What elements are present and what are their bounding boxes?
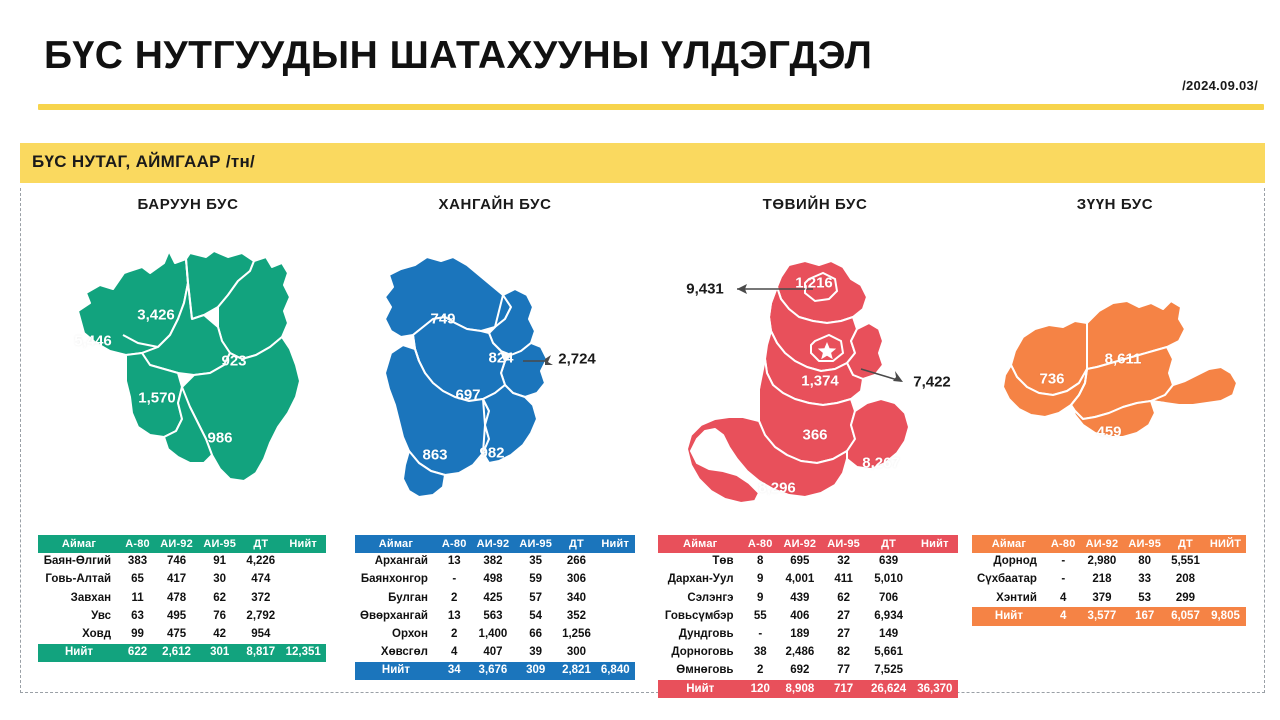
cell-ai95: 30: [198, 571, 241, 589]
cell-total-ai92: 2,612: [155, 644, 198, 662]
table-total-row: Нийт 120 8,908 717 26,624 36,370: [658, 680, 958, 698]
cell-ai95: 53: [1123, 589, 1166, 607]
cell-a80: 2: [743, 662, 778, 680]
map-east: 8,611 736 459: [975, 223, 1255, 523]
cell-name: Говьсүмбэр: [658, 607, 743, 625]
table-row: Баянхонгор - 498 59 306 863: [355, 571, 635, 589]
cell-ai92: 379: [1081, 589, 1124, 607]
cell-total: 3,426: [280, 607, 326, 625]
cell-total-sum: 36,370: [912, 680, 958, 698]
cell-total: 459: [1205, 571, 1246, 589]
cell-total: 736: [1205, 589, 1246, 607]
cell-dt: 208: [1166, 571, 1205, 589]
table-row: Говь-Алтай 65 417 30 474 986: [38, 571, 326, 589]
cell-ai92: 425: [472, 589, 515, 607]
cell-total-label: Нийт: [972, 607, 1046, 625]
cell-ai92: 498: [472, 571, 515, 589]
cell-total-label: Нийт: [38, 644, 120, 662]
map-label-west-3: 1,570: [138, 390, 176, 407]
table-khangai-body: Архангай 13 382 35 266 697 Баянхонгор - …: [355, 553, 635, 662]
cell-ai92: 218: [1081, 571, 1124, 589]
cell-dt: 340: [557, 589, 596, 607]
cell-total: 2,724: [596, 626, 635, 644]
th-khangai-dt: ДТ: [557, 535, 596, 553]
cell-total-label: Нийт: [658, 680, 743, 698]
cell-dt: 352: [557, 607, 596, 625]
cell-ai92: 692: [778, 662, 822, 680]
cell-ai95: 80: [1123, 553, 1166, 571]
cell-dt: 639: [865, 553, 911, 571]
cell-total-dt: 6,057: [1166, 607, 1205, 625]
cell-dt: 299: [1166, 589, 1205, 607]
th-west-ai92: АИ-92: [155, 535, 198, 553]
cell-total: 982: [596, 607, 635, 625]
map-label-khangai-2: 697: [455, 387, 480, 404]
table-row: Хэнтий 4 379 53 299 736: [972, 589, 1246, 607]
cell-ai95: 91: [198, 553, 241, 571]
map-label-central-3: 8,267: [862, 455, 900, 472]
cell-name: Увс: [38, 607, 120, 625]
cell-total-ai95: 301: [198, 644, 241, 662]
th-west-total: Нийт: [280, 535, 326, 553]
th-west-ai95: АИ-95: [198, 535, 241, 553]
cell-ai92: 439: [778, 589, 822, 607]
cell-dt: 954: [241, 626, 280, 644]
table-row: Өмнөговь 2 692 77 7,525 8,296: [658, 662, 958, 680]
cell-name: Завхан: [38, 589, 120, 607]
map-label-east-1: 736: [1039, 371, 1064, 388]
cell-total-label: Нийт: [355, 662, 437, 680]
th-khangai-ai92: АИ-92: [472, 535, 515, 553]
cell-a80: 13: [437, 553, 472, 571]
cell-total-sum: 9,805: [1205, 607, 1246, 625]
map-label-central-1: 1,374: [801, 373, 839, 390]
cell-a80: 4: [1046, 589, 1081, 607]
cell-ai95: 27: [822, 626, 866, 644]
cell-name: Дархан-Уул: [658, 571, 743, 589]
cell-total: 5,446: [280, 553, 326, 571]
table-row: Завхан 11 478 62 372 923: [38, 589, 326, 607]
cell-a80: -: [1046, 553, 1081, 571]
cell-name: Баянхонгор: [355, 571, 437, 589]
cell-total-dt: 26,624: [865, 680, 911, 698]
cell-name: Говь-Алтай: [38, 571, 120, 589]
slide-root: БҮС НУТГУУДЫН ШАТАХУУНЫ ҮЛДЭГДЭЛ /2024.0…: [0, 0, 1280, 720]
region-title-west: БАРУУН БУС: [38, 196, 338, 213]
cell-ai95: 57: [514, 589, 557, 607]
th-east-ai95: АИ-95: [1123, 535, 1166, 553]
cell-total: 863: [596, 571, 635, 589]
region-east: ЗҮҮН БУС 8,611 736 459: [975, 196, 1255, 523]
table-east: Аймаг А-80 АИ-92 АИ-95 ДТ НИЙТ Дорнод - …: [972, 535, 1246, 626]
cell-ai95: 32: [822, 553, 866, 571]
cell-name: Орхон: [355, 626, 437, 644]
cell-dt: 4,226: [241, 553, 280, 571]
cell-a80: 99: [120, 626, 155, 644]
cell-dt: 5,661: [865, 644, 911, 662]
map-label-khangai-4: 982: [479, 445, 504, 462]
cell-a80: -: [743, 626, 778, 644]
map-callout-central-darkhan-uul: 9,431: [686, 281, 724, 298]
cell-dt: 5,010: [865, 571, 911, 589]
cell-total: 8,267: [912, 644, 958, 662]
cell-total: 8,611: [1205, 553, 1246, 571]
map-label-khangai-1: 824: [488, 350, 513, 367]
cell-total: 7,422: [912, 607, 958, 625]
cell-ai92: 382: [472, 553, 515, 571]
report-date: /2024.09.03/: [1182, 78, 1258, 93]
th-east-ai92: АИ-92: [1081, 535, 1124, 553]
cell-a80: 9: [743, 571, 778, 589]
table-row: Булган 2 425 57 340 824: [355, 589, 635, 607]
title-underline: [38, 104, 1264, 110]
cell-total: 366: [912, 626, 958, 644]
cell-total-a80: 34: [437, 662, 472, 680]
map-label-khangai-3: 863: [422, 447, 447, 464]
map-callout-khangai-orkhon: 2,724: [558, 351, 596, 368]
table-khangai: Аймаг А-80 АИ-92 АИ-95 ДТ Нийт Архангай …: [355, 535, 635, 680]
cell-a80: -: [1046, 571, 1081, 589]
cell-ai92: 1,400: [472, 626, 515, 644]
cell-name: Ховд: [38, 626, 120, 644]
map-label-east-0: 8,611: [1105, 351, 1142, 368]
cell-total-ai95: 309: [514, 662, 557, 680]
cell-name: Дорноговь: [658, 644, 743, 662]
page-title: БҮС НУТГУУДЫН ШАТАХУУНЫ ҮЛДЭГДЭЛ: [44, 34, 872, 78]
table-east-header-row: Аймаг А-80 АИ-92 АИ-95 ДТ НИЙТ: [972, 535, 1246, 553]
cell-ai92: 2,486: [778, 644, 822, 662]
cell-total: 9,431: [912, 571, 958, 589]
cell-dt: 474: [241, 571, 280, 589]
map-west-svg: [38, 223, 338, 513]
cell-ai92: 563: [472, 607, 515, 625]
cell-total: 749: [596, 644, 635, 662]
table-west-foot: Нийт 622 2,612 301 8,817 12,351: [38, 644, 326, 662]
table-east-head: Аймаг А-80 АИ-92 АИ-95 ДТ НИЙТ: [972, 535, 1246, 553]
table-row: Өвөрхангай 13 563 54 352 982: [355, 607, 635, 625]
cell-total-ai95: 167: [1123, 607, 1166, 625]
table-row: Ховд 99 475 42 954 1,570: [38, 626, 326, 644]
cell-dt: 300: [557, 644, 596, 662]
cell-name: Төв: [658, 553, 743, 571]
cell-name: Өмнөговь: [658, 662, 743, 680]
cell-dt: 266: [557, 553, 596, 571]
map-label-west-2: 923: [221, 353, 246, 370]
map-label-central-4: 8,296: [758, 480, 796, 497]
cell-ai92: 189: [778, 626, 822, 644]
map-central-svg: [665, 223, 965, 513]
cell-total: 923: [280, 589, 326, 607]
cell-total-ai95: 717: [822, 680, 866, 698]
table-row: Дорнод - 2,980 80 5,551 8,611: [972, 553, 1246, 571]
cell-name: Дорнод: [972, 553, 1046, 571]
map-label-west-4: 986: [207, 430, 232, 447]
cell-total: 824: [596, 589, 635, 607]
section-banner-label: БҮС НУТАГ, АЙМГААР /тн/: [32, 152, 255, 172]
cell-dt: 1,256: [557, 626, 596, 644]
table-central-body: Төв 8 695 32 639 1,374 Дархан-Уул 9 4,00…: [658, 553, 958, 681]
cell-total: 1,570: [280, 626, 326, 644]
cell-a80: 65: [120, 571, 155, 589]
map-west: 3,426 5,446 923 1,570 986: [38, 223, 338, 523]
cell-ai95: 66: [514, 626, 557, 644]
map-label-central-0: 1,216: [795, 275, 833, 292]
cell-ai92: 478: [155, 589, 198, 607]
cell-ai95: 35: [514, 553, 557, 571]
cell-a80: 13: [437, 607, 472, 625]
th-east-dt: ДТ: [1166, 535, 1205, 553]
cell-ai95: 33: [1123, 571, 1166, 589]
cell-dt: 5,551: [1166, 553, 1205, 571]
map-east-svg: [975, 223, 1255, 513]
table-khangai-foot: Нийт 34 3,676 309 2,821 6,840: [355, 662, 635, 680]
cell-ai95: 42: [198, 626, 241, 644]
cell-total: 1,216: [912, 589, 958, 607]
th-west-name: Аймаг: [38, 535, 120, 553]
cell-ai95: 54: [514, 607, 557, 625]
cell-a80: 55: [743, 607, 778, 625]
cell-a80: 38: [743, 644, 778, 662]
cell-total-a80: 622: [120, 644, 155, 662]
cell-a80: 11: [120, 589, 155, 607]
map-khangai-svg: [355, 223, 635, 513]
cell-ai92: 495: [155, 607, 198, 625]
region-title-khangai: ХАНГАЙН БУС: [355, 196, 635, 213]
th-west-dt: ДТ: [241, 535, 280, 553]
cell-ai95: 39: [514, 644, 557, 662]
th-east-name: Аймаг: [972, 535, 1046, 553]
region-west: БАРУУН БУС 3,426: [38, 196, 338, 523]
cell-ai92: 407: [472, 644, 515, 662]
cell-a80: 8: [743, 553, 778, 571]
map-callout-central-govisumber: 7,422: [913, 374, 951, 391]
table-row: Сүхбаатар - 218 33 208 459: [972, 571, 1246, 589]
map-label-east-2: 459: [1096, 424, 1121, 441]
cell-total-dt: 2,821: [557, 662, 596, 680]
cell-total-a80: 120: [743, 680, 778, 698]
th-khangai-total: Нийт: [596, 535, 635, 553]
region-title-east: ЗҮҮН БУС: [975, 196, 1255, 213]
table-row: Дундговь - 189 27 149 366: [658, 626, 958, 644]
cell-name: Сэлэнгэ: [658, 589, 743, 607]
cell-total-dt: 8,817: [241, 644, 280, 662]
cell-dt: 706: [865, 589, 911, 607]
cell-total-a80: 4: [1046, 607, 1081, 625]
cell-dt: 372: [241, 589, 280, 607]
cell-dt: 7,525: [865, 662, 911, 680]
table-row: Төв 8 695 32 639 1,374: [658, 553, 958, 571]
map-central: 1,216 1,374 366 8,267 8,296 9,431 7,422: [665, 223, 965, 523]
map-khangai: 749 824 697 863 982 2,724: [355, 223, 635, 523]
region-khangai: ХАНГАЙН БУС: [355, 196, 635, 523]
table-row: Орхон 2 1,400 66 1,256 2,724: [355, 626, 635, 644]
table-west-body: Баян-Өлгий 383 746 91 4,226 5,446 Говь-А…: [38, 553, 326, 644]
cell-ai92: 746: [155, 553, 198, 571]
cell-a80: 2: [437, 626, 472, 644]
table-row: Увс 63 495 76 2,792 3,426: [38, 607, 326, 625]
table-khangai-head: Аймаг А-80 АИ-92 АИ-95 ДТ Нийт: [355, 535, 635, 553]
table-total-row: Нийт 4 3,577 167 6,057 9,805: [972, 607, 1246, 625]
th-east-a80: А-80: [1046, 535, 1081, 553]
cell-total-sum: 6,840: [596, 662, 635, 680]
cell-name: Архангай: [355, 553, 437, 571]
cell-ai92: 695: [778, 553, 822, 571]
cell-ai95: 411: [822, 571, 866, 589]
th-khangai-name: Аймаг: [355, 535, 437, 553]
table-central-header-row: Аймаг А-80 АИ-92 АИ-95 ДТ Нийт: [658, 535, 958, 553]
cell-total: 697: [596, 553, 635, 571]
map-label-west-0: 3,426: [137, 307, 175, 324]
map-label-khangai-0: 749: [430, 311, 455, 328]
cell-name: Хэнтий: [972, 589, 1046, 607]
table-west: Аймаг А-80 АИ-92 АИ-95 ДТ Нийт Баян-Өлги…: [38, 535, 326, 662]
table-total-row: Нийт 34 3,676 309 2,821 6,840: [355, 662, 635, 680]
table-row: Сэлэнгэ 9 439 62 706 1,216: [658, 589, 958, 607]
table-central-foot: Нийт 120 8,908 717 26,624 36,370: [658, 680, 958, 698]
region-central: ТӨВИЙН БУС: [665, 196, 965, 523]
cell-dt: 2,792: [241, 607, 280, 625]
th-west-a80: А-80: [120, 535, 155, 553]
cell-name: Хөвсгөл: [355, 644, 437, 662]
cell-total: 1,374: [912, 553, 958, 571]
cell-a80: 383: [120, 553, 155, 571]
arrow-head-govisumber: [893, 371, 903, 382]
table-west-head: Аймаг А-80 АИ-92 АИ-95 ДТ Нийт: [38, 535, 326, 553]
cell-ai92: 406: [778, 607, 822, 625]
th-central-ai95: АИ-95: [822, 535, 866, 553]
cell-total: 986: [280, 571, 326, 589]
cell-total: 8,296: [912, 662, 958, 680]
cell-ai92: 2,980: [1081, 553, 1124, 571]
cell-a80: 63: [120, 607, 155, 625]
table-central: Аймаг А-80 АИ-92 АИ-95 ДТ Нийт Төв 8 695…: [658, 535, 958, 698]
cell-name: Дундговь: [658, 626, 743, 644]
cell-ai95: 82: [822, 644, 866, 662]
cell-name: Өвөрхангай: [355, 607, 437, 625]
table-row: Дархан-Уул 9 4,001 411 5,010 9,431: [658, 571, 958, 589]
table-row: Баян-Өлгий 383 746 91 4,226 5,446: [38, 553, 326, 571]
table-row: Хөвсгөл 4 407 39 300 749: [355, 644, 635, 662]
th-central-ai92: АИ-92: [778, 535, 822, 553]
map-label-west-1: 5,446: [74, 333, 112, 350]
cell-ai95: 62: [822, 589, 866, 607]
cell-ai95: 59: [514, 571, 557, 589]
table-row: Дорноговь 38 2,486 82 5,661 8,267: [658, 644, 958, 662]
cell-ai95: 62: [198, 589, 241, 607]
cell-ai95: 76: [198, 607, 241, 625]
th-central-total: Нийт: [912, 535, 958, 553]
map-label-central-2: 366: [802, 427, 827, 444]
table-central-head: Аймаг А-80 АИ-92 АИ-95 ДТ Нийт: [658, 535, 958, 553]
cell-dt: 6,934: [865, 607, 911, 625]
cell-total-ai92: 3,577: [1081, 607, 1124, 625]
cell-total-ai92: 8,908: [778, 680, 822, 698]
cell-a80: 4: [437, 644, 472, 662]
cell-name: Булган: [355, 589, 437, 607]
table-row: Говьсүмбэр 55 406 27 6,934 7,422: [658, 607, 958, 625]
cell-total-sum: 12,351: [280, 644, 326, 662]
cell-a80: 2: [437, 589, 472, 607]
table-east-body: Дорнод - 2,980 80 5,551 8,611 Сүхбаатар …: [972, 553, 1246, 608]
table-khangai-header-row: Аймаг А-80 АИ-92 АИ-95 ДТ Нийт: [355, 535, 635, 553]
table-east-foot: Нийт 4 3,577 167 6,057 9,805: [972, 607, 1246, 625]
cell-name: Сүхбаатар: [972, 571, 1046, 589]
cell-ai92: 417: [155, 571, 198, 589]
cell-total-ai92: 3,676: [472, 662, 515, 680]
th-khangai-ai95: АИ-95: [514, 535, 557, 553]
cell-dt: 149: [865, 626, 911, 644]
cell-ai95: 27: [822, 607, 866, 625]
cell-ai92: 4,001: [778, 571, 822, 589]
table-row: Архангай 13 382 35 266 697: [355, 553, 635, 571]
th-central-a80: А-80: [743, 535, 778, 553]
cell-ai95: 77: [822, 662, 866, 680]
table-total-row: Нийт 622 2,612 301 8,817 12,351: [38, 644, 326, 662]
th-east-total: НИЙТ: [1205, 535, 1246, 553]
cell-ai92: 475: [155, 626, 198, 644]
th-central-dt: ДТ: [865, 535, 911, 553]
th-khangai-a80: А-80: [437, 535, 472, 553]
cell-dt: 306: [557, 571, 596, 589]
cell-a80: -: [437, 571, 472, 589]
th-central-name: Аймаг: [658, 535, 743, 553]
table-west-header-row: Аймаг А-80 АИ-92 АИ-95 ДТ Нийт: [38, 535, 326, 553]
region-title-central: ТӨВИЙН БУС: [665, 196, 965, 213]
cell-name: Баян-Өлгий: [38, 553, 120, 571]
cell-a80: 9: [743, 589, 778, 607]
